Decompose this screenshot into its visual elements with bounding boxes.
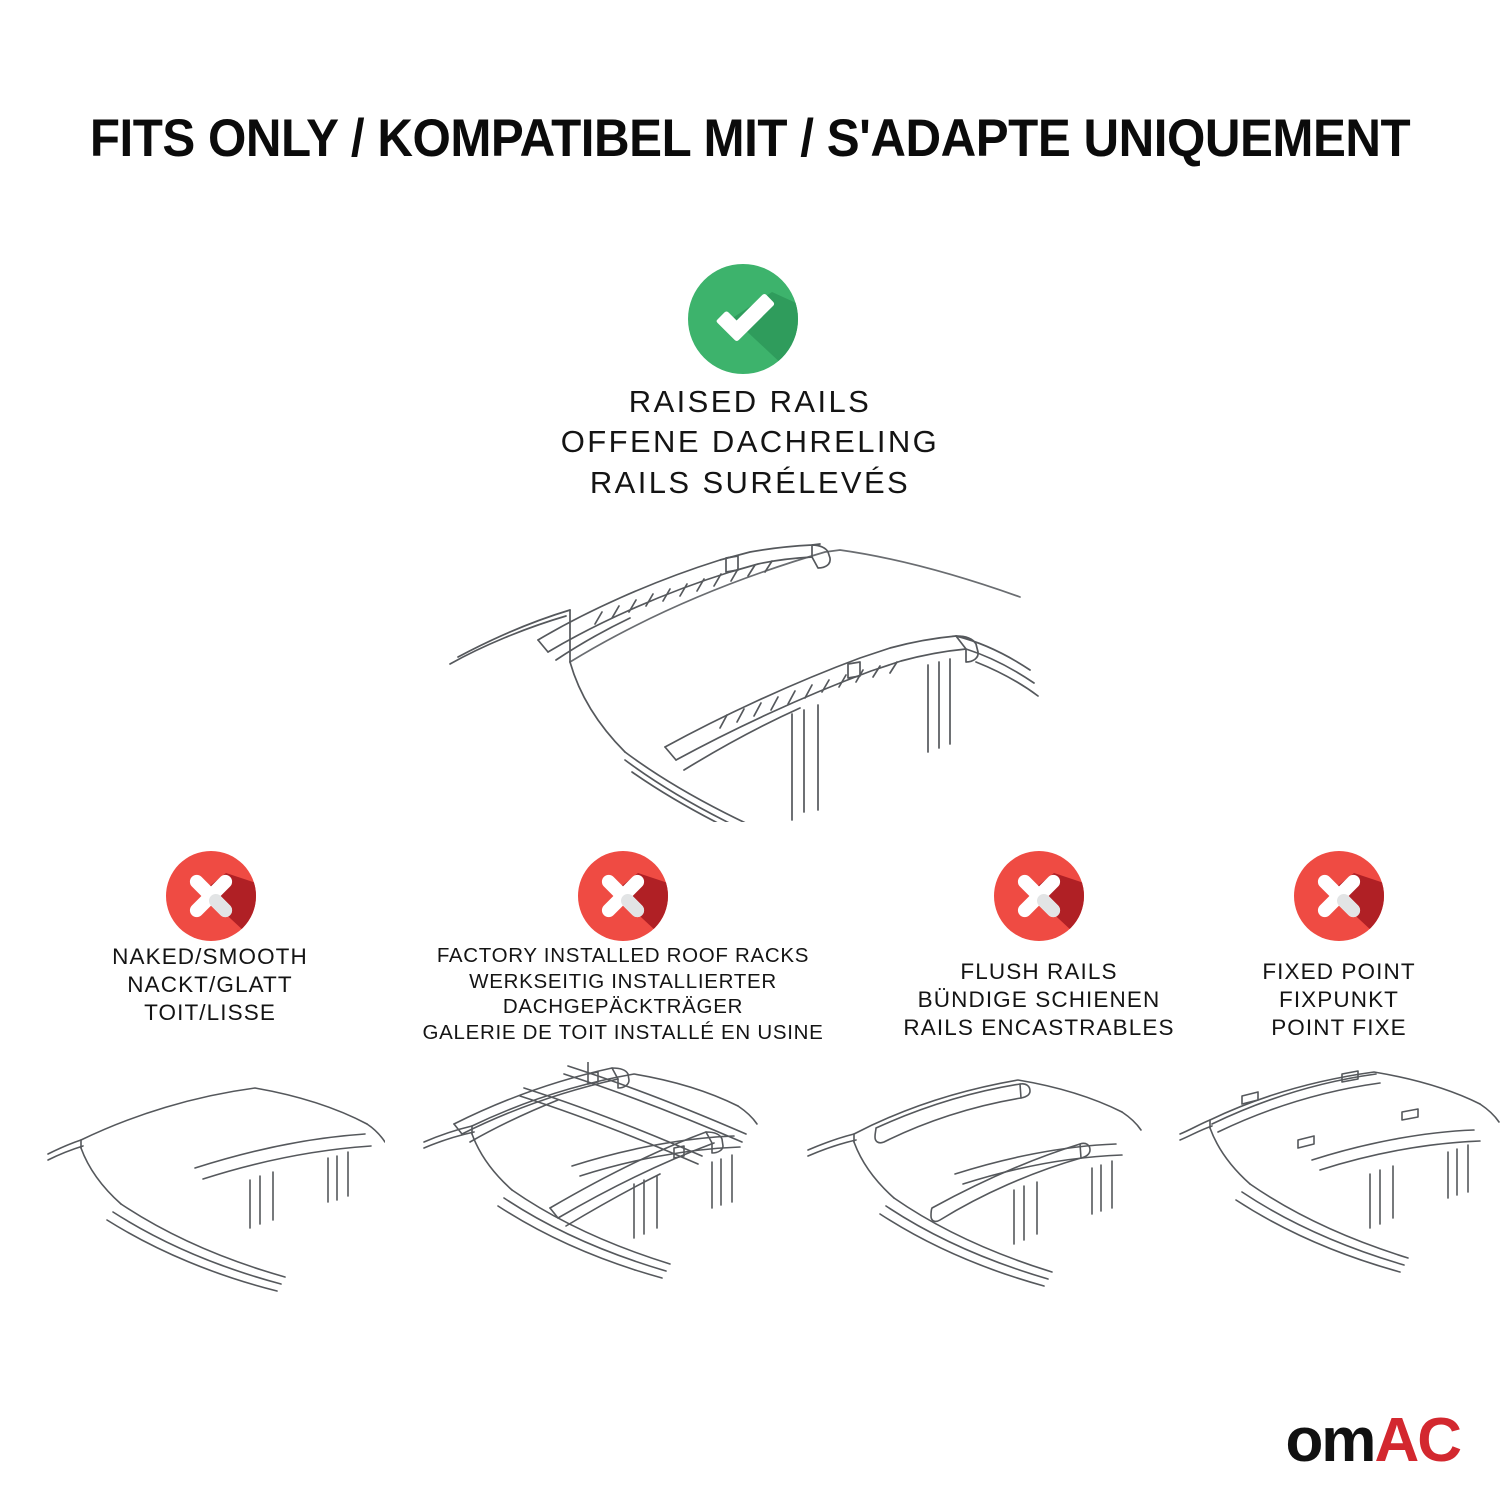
car-roof-raised-rails-illustration (420, 512, 1080, 822)
label-line: FIXPUNKT (1189, 986, 1489, 1014)
incompatible-label-factory-racks: FACTORY INSTALLED ROOF RACKS WERKSEITIG … (383, 943, 863, 1046)
label-line: TOIT/LISSE (0, 999, 420, 1027)
cross-circle-icon (992, 849, 1086, 943)
car-roof-fixed-point-illustration (1152, 1062, 1500, 1292)
logo-text-om: om (1285, 1406, 1374, 1475)
compatible-label: RAISED RAILS OFFENE DACHRELING RAILS SUR… (0, 382, 1500, 503)
page-title: FITS ONLY / KOMPATIBEL MIT / S'ADAPTE UN… (53, 108, 1448, 169)
label-line: GALERIE DE TOIT INSTALLÉ EN USINE (383, 1020, 863, 1046)
compatible-label-line-2: OFFENE DACHRELING (0, 422, 1500, 462)
label-line: FACTORY INSTALLED ROOF RACKS (383, 943, 863, 969)
incompatible-label-naked-smooth: NAKED/SMOOTH NACKT/GLATT TOIT/LISSE (0, 943, 420, 1027)
omac-logo: omAC (1285, 1410, 1460, 1472)
incompatible-label-fixed-point: FIXED POINT FIXPUNKT POINT FIXE (1189, 958, 1489, 1042)
car-roof-naked-smooth-illustration (45, 1062, 385, 1292)
incompatible-label-flush-rails: FLUSH RAILS BÜNDIGE SCHIENEN RAILS ENCAS… (849, 958, 1229, 1042)
label-line: FIXED POINT (1189, 958, 1489, 986)
fitment-infographic: FITS ONLY / KOMPATIBEL MIT / S'ADAPTE UN… (0, 0, 1500, 1500)
label-line: NACKT/GLATT (0, 971, 420, 999)
label-line: RAILS ENCASTRABLES (849, 1014, 1229, 1042)
cross-circle-icon (576, 849, 670, 943)
label-line: WERKSEITIG INSTALLIERTER (383, 969, 863, 995)
car-roof-flush-rails-illustration (792, 1062, 1142, 1292)
cross-circle-icon (164, 849, 258, 943)
check-circle-icon (686, 262, 800, 376)
compatible-label-line-3: RAILS SURÉLEVÉS (0, 463, 1500, 503)
label-line: DACHGEPÄCKTRÄGER (383, 994, 863, 1020)
label-line: NAKED/SMOOTH (0, 943, 420, 971)
label-line: POINT FIXE (1189, 1014, 1489, 1042)
label-line: BÜNDIGE SCHIENEN (849, 986, 1229, 1014)
logo-text-ac: AC (1374, 1406, 1460, 1475)
compatible-label-line-1: RAISED RAILS (0, 382, 1500, 422)
cross-circle-icon (1292, 849, 1386, 943)
car-roof-factory-racks-illustration (412, 1062, 762, 1292)
label-line: FLUSH RAILS (849, 958, 1229, 986)
